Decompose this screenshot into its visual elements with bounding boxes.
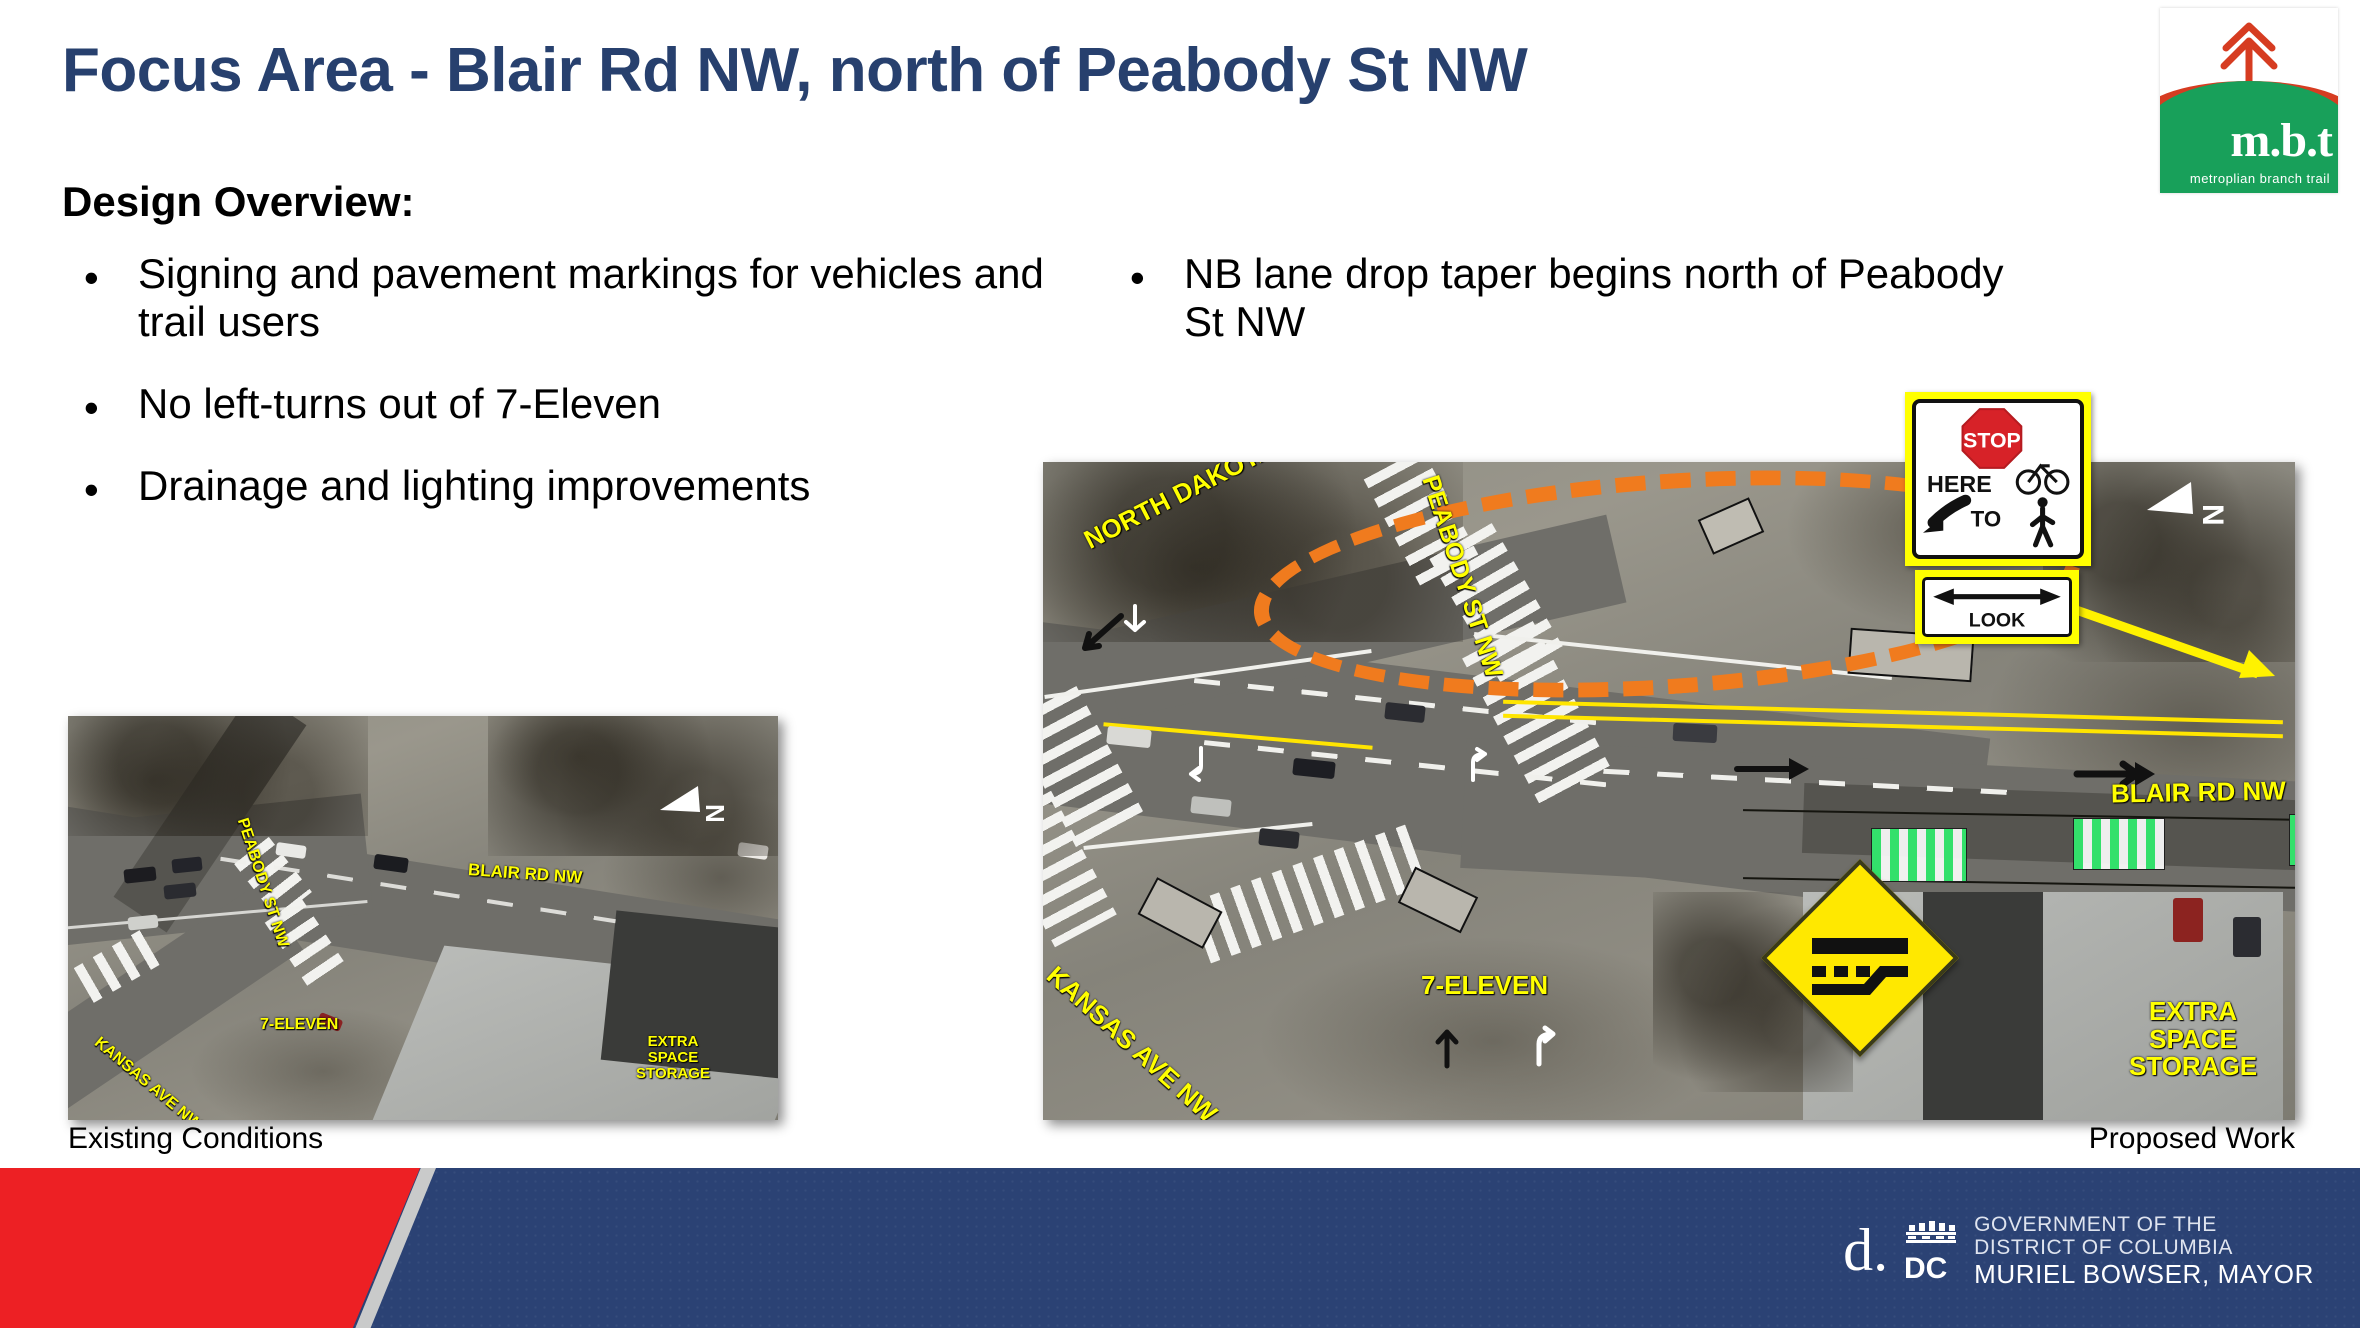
aerial-photo-proposed: NORTH DAKOTA AVE NW PEABODY ST NW BLAIR …	[1043, 462, 2295, 1120]
list-item: • No left-turns out of 7-Eleven	[62, 380, 1062, 428]
bullet-list-right: • NB lane drop taper begins north of Pea…	[1108, 250, 2008, 380]
north-arrow-icon: N	[654, 772, 732, 834]
bullet-icon: •	[1130, 254, 1145, 302]
list-item: • Signing and pavement markings for vehi…	[62, 250, 1062, 346]
svg-text:LOOK: LOOK	[1969, 610, 2025, 632]
green-bike-crossing	[2073, 818, 2165, 870]
bullet-icon: •	[84, 384, 99, 432]
dc-logo-text: GOVERNMENT OF THE DISTRICT OF COLUMBIA M…	[1974, 1213, 2314, 1289]
map-label-extra-space-storage: EXTRA SPACE STORAGE	[2103, 998, 2283, 1081]
map-label-7eleven: 7-ELEVEN	[260, 1016, 338, 1034]
svg-text:STOP: STOP	[1963, 429, 2021, 453]
right-turn-arrow-icon	[1523, 1022, 1571, 1070]
straight-arrow-icon	[1733, 752, 1813, 786]
bullet-icon: •	[84, 466, 99, 514]
svg-text:N: N	[700, 804, 730, 823]
map-label-7eleven: 7-ELEVEN	[1421, 970, 1548, 1001]
slide-canvas: Focus Area - Blair Rd NW, north of Peabo…	[0, 0, 2360, 1328]
look-sign: LOOK	[1922, 577, 2072, 637]
map-label-blair: BLAIR RD NW	[2111, 775, 2286, 809]
mbt-logo: m.b.t metroplian branch trail	[2160, 8, 2338, 193]
dc-seal-icon: DC	[1902, 1220, 1960, 1282]
list-item: • Drainage and lighting improvements	[62, 462, 1062, 510]
mbt-tagline: metroplian branch trail	[2160, 172, 2330, 185]
footer-bar: d. DC GOVERNMENT OF THE DISTRICT OF COLU…	[0, 1168, 2360, 1328]
page-title: Focus Area - Blair Rd NW, north of Peabo…	[62, 38, 2022, 103]
bullet-list-left: • Signing and pavement markings for vehi…	[62, 250, 1062, 544]
caption-proposed: Proposed Work	[1043, 1122, 2295, 1156]
mbt-green-panel: m.b.t metroplian branch trail	[2160, 107, 2338, 193]
list-item-label: No left-turns out of 7-Eleven	[138, 380, 661, 427]
svg-text:N: N	[2196, 504, 2229, 526]
list-item-label: Drainage and lighting improvements	[138, 462, 810, 509]
green-bike-crossing	[1871, 828, 1967, 882]
green-bike-crossing	[2289, 814, 2295, 866]
list-item: • NB lane drop taper begins north of Pea…	[1108, 250, 2008, 346]
left-turn-arrow-icon	[1173, 742, 1217, 786]
dc-line-3: MURIEL BOWSER, MAYOR	[1974, 1260, 2314, 1289]
dc-line-2: DISTRICT OF COLUMBIA	[1974, 1236, 2314, 1260]
bullet-icon: •	[84, 254, 99, 302]
lane-ends-symbol	[1794, 892, 1926, 1024]
dc-government-logo: d. DC GOVERNMENT OF THE DISTRICT OF COLU…	[1843, 1216, 2314, 1286]
stop-here-to-sign-callout: STOP HERE TO	[1905, 392, 2091, 566]
through-arrow-icon	[1423, 1022, 1471, 1070]
caption-existing: Existing Conditions	[68, 1122, 323, 1156]
stop-here-to-sign: STOP HERE TO	[1912, 399, 2084, 559]
dc-dot-mark: d.	[1843, 1225, 1888, 1277]
svg-text:TO: TO	[1971, 507, 2002, 532]
map-label-extra-space-storage: EXTRA SPACE STORAGE	[623, 1034, 723, 1081]
mbt-wordmark: m.b.t	[2160, 117, 2332, 165]
north-arrow-icon: N	[2139, 466, 2229, 542]
direction-arrow-icon	[1073, 610, 1127, 658]
footer-red-wedge	[0, 1168, 420, 1328]
dc-seal-text: DC	[1904, 1252, 1947, 1282]
look-sign-callout: LOOK	[1915, 570, 2079, 644]
section-heading: Design Overview:	[62, 178, 414, 226]
aerial-photo-existing: PEABODY ST NW BLAIR RD NW 7-ELEVEN EXTRA…	[68, 716, 778, 1120]
right-turn-arrow-icon	[1457, 744, 1501, 788]
list-item-label: Signing and pavement markings for vehicl…	[138, 250, 1044, 345]
svg-text:HERE: HERE	[1927, 471, 1992, 497]
dc-line-1: GOVERNMENT OF THE	[1974, 1213, 2314, 1237]
list-item-label: NB lane drop taper begins north of Peabo…	[1184, 250, 2004, 345]
